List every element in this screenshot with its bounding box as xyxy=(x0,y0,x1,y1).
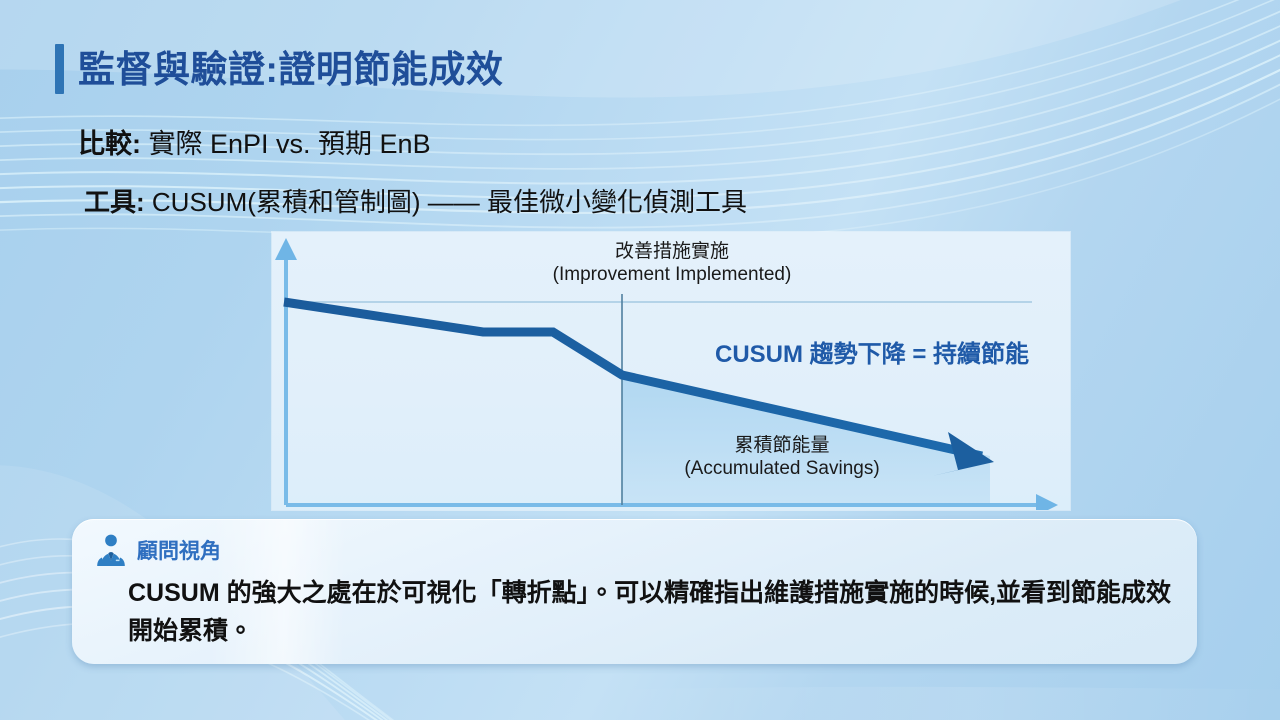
savings-annotation-en: (Accumulated Savings) xyxy=(572,457,992,480)
callout-header: 顧問視角 xyxy=(94,533,221,567)
page-title: 監督與驗證:證明節能成效 xyxy=(55,44,503,94)
improvement-annotation-cn: 改善措施實施 xyxy=(452,240,892,263)
y-axis xyxy=(275,238,297,505)
consultant-icon xyxy=(94,533,128,567)
bullet-tool-lead: 工具: xyxy=(84,187,145,217)
improvement-annotation: 改善措施實施 (Improvement Implemented) xyxy=(452,240,892,286)
cusum-chart-panel: 改善措施實施 (Improvement Implemented) CUSUM 趨… xyxy=(272,232,1070,510)
bullet-comparison: 比較: 實際 EnPI vs. 預期 EnB xyxy=(78,122,431,161)
slide-canvas: 監督與驗證:證明節能成效 比較: 實際 EnPI vs. 預期 EnB 工具: … xyxy=(0,0,1280,720)
improvement-annotation-en: (Improvement Implemented) xyxy=(452,263,892,286)
callout-body-text: CUSUM 的強大之處在於可視化「轉折點」。可以精確指出維護措施實施的時候,並看… xyxy=(128,574,1173,650)
cusum-trend-note: CUSUM 趨勢下降 = 持續節能 xyxy=(677,334,1067,369)
callout-heading: 顧問視角 xyxy=(137,535,221,565)
savings-annotation: 累積節能量 (Accumulated Savings) xyxy=(572,434,992,480)
savings-annotation-cn: 累積節能量 xyxy=(572,434,992,457)
title-accent-bar xyxy=(55,44,64,94)
bullet-comparison-text: 實際 EnPI vs. 預期 EnB xyxy=(141,129,431,159)
title-label: 監督與驗證:證明節能成效 xyxy=(78,51,503,88)
bullet-tool: 工具: CUSUM(累積和管制圖) —— 最佳微小變化偵測工具 xyxy=(84,182,747,219)
bullet-tool-text: CUSUM(累積和管制圖) —— 最佳微小變化偵測工具 xyxy=(145,187,747,217)
consultant-callout: 顧問視角 CUSUM 的強大之處在於可視化「轉折點」。可以精確指出維護措施實施的… xyxy=(72,519,1197,664)
bullet-comparison-lead: 比較: xyxy=(78,129,141,159)
